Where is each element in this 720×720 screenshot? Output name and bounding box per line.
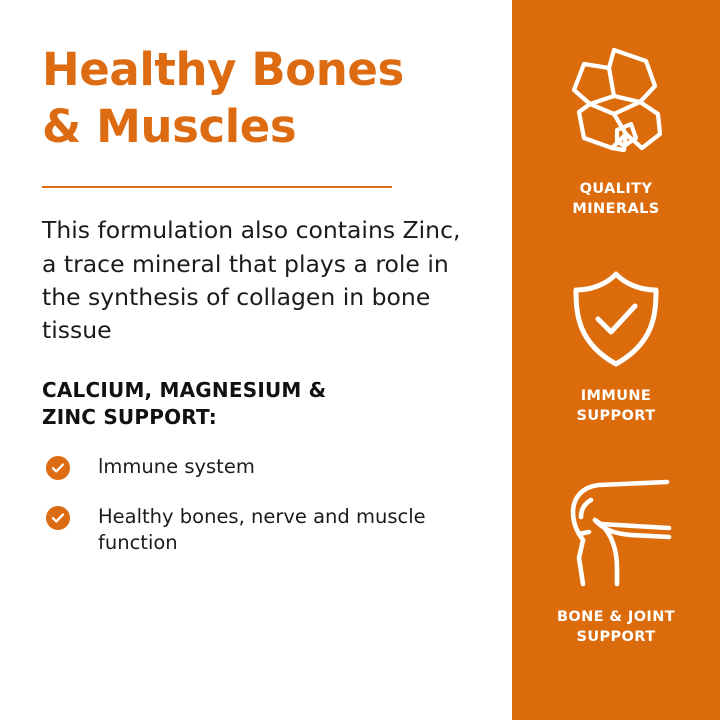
list-item: Healthy bones, nerve and muscle function bbox=[46, 504, 482, 555]
knee-joint-icon bbox=[557, 472, 675, 594]
support-subheading: CALCIUM, MAGNESIUM & ZINC SUPPORT: bbox=[42, 348, 482, 431]
list-item-label: Healthy bones, nerve and muscle function bbox=[70, 504, 428, 555]
shield-check-icon bbox=[568, 269, 664, 373]
list-item: lmmune system bbox=[46, 454, 482, 480]
page-title: Healthy Bones & Muscles bbox=[42, 42, 482, 155]
benefits-list: lmmune system Healthy bones, nerve and m… bbox=[42, 431, 482, 555]
feature-quality-minerals: QUALITY MINERALS bbox=[512, 0, 720, 219]
left-content-panel: Healthy Bones & Muscles This formulation… bbox=[0, 0, 512, 720]
list-item-label: lmmune system bbox=[70, 454, 255, 480]
check-circle-icon bbox=[46, 506, 70, 530]
feature-sidebar: QUALITY MINERALS IMMUNE SUPPORT bbox=[512, 0, 720, 720]
feature-immune-support: IMMUNE SUPPORT bbox=[512, 219, 720, 426]
feature-label: QUALITY MINERALS bbox=[572, 180, 659, 219]
check-circle-icon bbox=[46, 456, 70, 480]
feature-label: IMMUNE SUPPORT bbox=[576, 387, 655, 426]
body-paragraph: This formulation also contains Zinc, a t… bbox=[42, 188, 482, 347]
product-benefits-infographic: Healthy Bones & Muscles This formulation… bbox=[0, 0, 720, 720]
feature-bone-joint-support: BONE & JOINT SUPPORT bbox=[512, 426, 720, 647]
mineral-crystals-icon bbox=[554, 42, 678, 166]
feature-label: BONE & JOINT SUPPORT bbox=[557, 608, 675, 647]
